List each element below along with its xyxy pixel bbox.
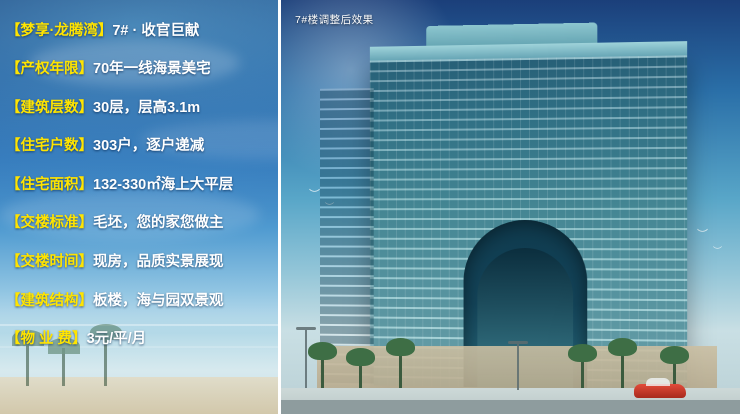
spec-value: 132-330㎡海上大平层 bbox=[93, 173, 233, 194]
street-lamp bbox=[517, 344, 519, 390]
poster-root: 【梦享·龙腾湾】 7# · 收官巨献 【产权年限】 70年一线海景美宅 【建筑层… bbox=[0, 0, 740, 414]
spec-value: 板楼，海与园双景观 bbox=[93, 289, 224, 310]
spec-line: 【交楼标准】 毛坯，您的家您做主 bbox=[6, 209, 278, 235]
spec-value: 7# · 收官巨献 bbox=[112, 19, 199, 40]
spec-value: 现房，品质实景展现 bbox=[93, 250, 224, 271]
spec-line: 【住宅面积】 132-330㎡海上大平层 bbox=[6, 170, 278, 196]
spec-line: 【梦享·龙腾湾】 7# · 收官巨献 bbox=[6, 16, 278, 42]
spec-label: 【物 业 费】 bbox=[6, 327, 87, 348]
bird-icon: ︶ bbox=[713, 244, 722, 257]
spec-label: 【住宅面积】 bbox=[6, 173, 93, 194]
street-lamp bbox=[305, 330, 307, 388]
spec-value: 303户，逐户递减 bbox=[93, 134, 204, 155]
photo-caption: 7#楼调整后效果 bbox=[295, 12, 374, 27]
spec-label: 【交楼标准】 bbox=[6, 211, 93, 232]
spec-list: 【梦享·龙腾湾】 7# · 收官巨献 【产权年限】 70年一线海景美宅 【建筑层… bbox=[6, 16, 278, 363]
spec-line: 【物 业 费】 3元/平/月 bbox=[6, 325, 278, 351]
spec-label: 【梦享·龙腾湾】 bbox=[6, 19, 112, 40]
building-rendering: 7#楼调整后效果 ︶ ︶ ︶ ︶ bbox=[278, 0, 740, 414]
spec-label: 【产权年限】 bbox=[6, 57, 93, 78]
spec-value: 70年一线海景美宅 bbox=[93, 57, 211, 78]
spec-label: 【住宅户数】 bbox=[6, 134, 93, 155]
spec-line: 【建筑结构】 板楼，海与园双景观 bbox=[6, 286, 278, 312]
spec-line: 【交楼时间】 现房，品质实景展现 bbox=[6, 248, 278, 274]
bird-icon: ︶ bbox=[697, 226, 708, 242]
spec-line: 【住宅户数】 303户，逐户递减 bbox=[6, 132, 278, 158]
spec-line: 【建筑层数】 30层，层高3.1m bbox=[6, 93, 278, 119]
spec-value: 毛坯，您的家您做主 bbox=[93, 211, 224, 232]
spec-value: 30层，层高3.1m bbox=[93, 96, 200, 117]
spec-label: 【建筑层数】 bbox=[6, 96, 93, 117]
spec-label: 【建筑结构】 bbox=[6, 289, 93, 310]
spec-line: 【产权年限】 70年一线海景美宅 bbox=[6, 55, 278, 81]
spec-label: 【交楼时间】 bbox=[6, 250, 93, 271]
spec-value: 3元/平/月 bbox=[87, 327, 147, 348]
building-left-wing bbox=[320, 88, 374, 385]
car-shape bbox=[634, 384, 686, 398]
bird-icon: ︶ bbox=[309, 186, 320, 202]
road-strip bbox=[281, 400, 740, 414]
tower-building bbox=[370, 55, 687, 390]
